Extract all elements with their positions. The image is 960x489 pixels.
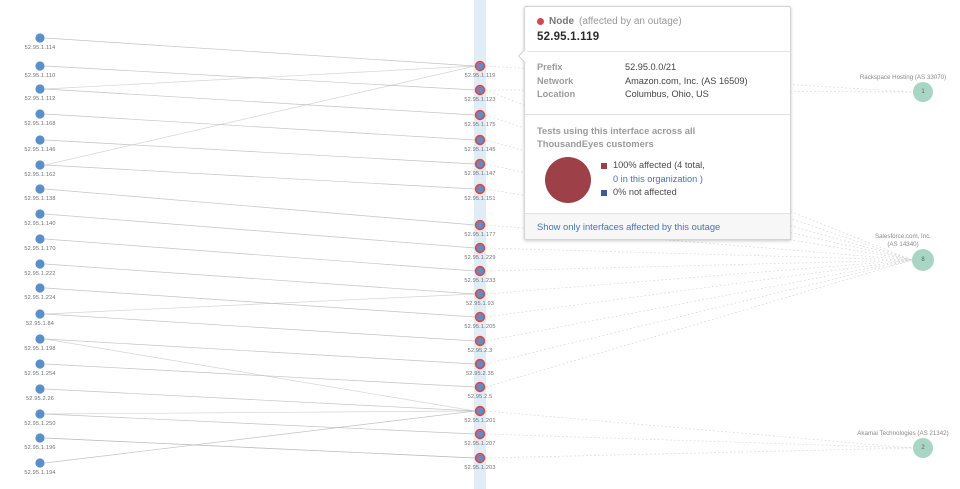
affected-node-label: 52.95.1.145	[464, 147, 495, 153]
affected-node[interactable]	[476, 221, 485, 230]
source-node[interactable]	[35, 409, 44, 418]
source-node-label: 52.95.1.168	[24, 121, 55, 127]
affected-node-label: 52.95.1.177	[464, 232, 495, 238]
pie-legend: 100% affected (4 total, 0 in this organi…	[601, 159, 705, 200]
source-node-label: 52.95.2.26	[26, 396, 54, 402]
source-node[interactable]	[35, 433, 44, 442]
source-node-label: 52.95.1.250	[24, 421, 55, 427]
affected-node[interactable]	[476, 111, 485, 120]
affected-node[interactable]	[476, 407, 485, 416]
edge	[45, 239, 475, 271]
edge	[486, 448, 913, 458]
edge	[45, 189, 475, 225]
affected-node-label: 52.95.1.93	[466, 301, 494, 307]
edge	[45, 364, 475, 387]
affected-node[interactable]	[476, 185, 485, 194]
affected-node[interactable]	[476, 383, 485, 392]
tests-stats: 100% affected (4 total, 0 in this organi…	[537, 157, 778, 203]
detail-row-location: Location Columbus, Ohio, US	[537, 88, 778, 102]
source-node-label: 52.95.1.110	[25, 73, 56, 79]
source-node[interactable]	[35, 458, 44, 467]
destination-node-count: 2	[921, 445, 924, 451]
edge	[486, 260, 912, 317]
destination-label-line: (AS 14340)	[875, 241, 931, 249]
affected-node-label: 52.95.1.123	[464, 97, 495, 103]
source-node-label: 52.95.1.196	[24, 445, 55, 451]
edge	[45, 165, 475, 189]
detail-row-network: Network Amazon.com, Inc. (AS 16509)	[537, 75, 778, 89]
affected-node[interactable]	[476, 290, 485, 299]
source-node-label: 52.95.1.198	[24, 346, 55, 352]
affected-node-label: 52.95.2.3	[468, 348, 493, 354]
edge	[45, 66, 475, 165]
affected-node-label: 52.95.1.147	[464, 171, 495, 177]
affected-node[interactable]	[476, 62, 485, 71]
source-node[interactable]	[35, 283, 44, 292]
destination-node-label: Akamai Technologies (AS 21342)	[857, 430, 948, 438]
affected-node-label: 52.95.1.201	[464, 418, 495, 424]
affected-node-label: 52.95.1.207	[464, 441, 495, 447]
tests-title-line2: ThousandEyes customers	[537, 137, 778, 150]
affected-node[interactable]	[476, 86, 485, 95]
edge	[45, 339, 475, 364]
detail-value: Columbus, Ohio, US	[625, 88, 709, 102]
tooltip-node-ip: 52.95.1.119	[537, 31, 778, 43]
edge	[486, 260, 912, 294]
source-node[interactable]	[35, 234, 44, 243]
legend-swatch-not-affected	[601, 190, 607, 196]
affected-node[interactable]	[476, 360, 485, 369]
affected-node-label: 52.95.1.233	[464, 278, 495, 284]
source-node[interactable]	[35, 33, 44, 42]
detail-key: Network	[537, 75, 625, 89]
tooltip-kind-sub: (affected by an outage)	[579, 16, 682, 27]
edge	[486, 411, 913, 448]
detail-row-prefix: Prefix 52.95.0.0/21	[537, 61, 778, 75]
source-node-label: 52.95.1.138	[24, 196, 55, 202]
source-node-label: 52.95.1.194	[24, 470, 55, 476]
affected-node[interactable]	[476, 430, 485, 439]
affected-node-label: 52.95.1.175	[464, 122, 495, 128]
source-node-label: 52.95.1.224	[24, 295, 55, 301]
destination-node-count: 1	[921, 89, 924, 95]
affected-node[interactable]	[476, 244, 485, 253]
affected-pie-chart	[545, 157, 591, 203]
topology-canvas: 52.95.1.11452.95.1.11052.95.1.11252.95.1…	[0, 0, 960, 489]
detail-value: Amazon.com, Inc. (AS 16509)	[625, 75, 748, 89]
source-node-label: 52.95.1.162	[24, 172, 55, 178]
destination-label-line: Akamai Technologies (AS 21342)	[857, 430, 948, 438]
tooltip-tests-section: Tests using this interface across all Th…	[525, 114, 790, 213]
affected-node-label: 52.95.1.229	[464, 255, 495, 261]
source-node[interactable]	[35, 135, 44, 144]
edge	[45, 38, 475, 66]
edge	[45, 89, 475, 115]
source-node[interactable]	[35, 259, 44, 268]
source-node-label: 52.95.1.170	[24, 246, 55, 252]
destination-label-line: Salesforce.com, Inc.	[875, 233, 931, 241]
edge	[486, 260, 912, 271]
show-only-affected-link[interactable]: Show only interfaces affected by this ou…	[525, 213, 790, 239]
legend-affected: 100% affected (4 total, 0 in this organi…	[601, 159, 705, 186]
affected-node[interactable]	[476, 136, 485, 145]
tests-title-line1: Tests using this interface across all	[537, 124, 778, 137]
detail-key: Location	[537, 88, 625, 102]
source-node[interactable]	[35, 334, 44, 343]
source-node[interactable]	[35, 184, 44, 193]
legend-swatch-affected	[601, 163, 607, 169]
edge	[45, 314, 475, 341]
source-node-label: 52.95.1.84	[26, 321, 54, 327]
source-node-label: 52.95.1.112	[25, 96, 56, 102]
source-node-label: 52.95.1.114	[25, 45, 56, 51]
affected-node[interactable]	[476, 337, 485, 346]
detail-value: 52.95.0.0/21	[625, 61, 676, 75]
source-node[interactable]	[35, 61, 44, 70]
source-node-label: 52.95.1.146	[24, 147, 55, 153]
source-node[interactable]	[35, 160, 44, 169]
edge	[45, 414, 475, 434]
legend-affected-text: 100% affected (4 total,	[613, 160, 705, 170]
outage-status-dot	[537, 18, 544, 25]
edge	[486, 434, 913, 448]
affected-node-label: 52.95.1.151	[464, 196, 495, 202]
destination-label-line: Rackspace Hosting (AS 33070)	[860, 74, 946, 82]
tooltip-header: Node (affected by an outage) 52.95.1.119	[525, 7, 790, 52]
affected-node[interactable]	[476, 267, 485, 276]
edge	[486, 260, 912, 364]
edge	[45, 411, 475, 414]
edge	[45, 214, 475, 248]
legend-not-affected-text: 0% not affected	[613, 186, 677, 200]
source-node-label: 52.95.1.254	[24, 371, 55, 377]
destination-node-label: Rackspace Hosting (AS 33070)	[860, 74, 946, 82]
edge	[486, 248, 912, 260]
destination-node-count: 8	[921, 257, 924, 263]
source-node[interactable]	[35, 384, 44, 393]
affected-node[interactable]	[476, 313, 485, 322]
tooltip-details: Prefix 52.95.0.0/21 Network Amazon.com, …	[525, 52, 790, 106]
edge	[45, 114, 475, 140]
source-node-label: 52.95.1.222	[24, 271, 55, 277]
solid-edges	[45, 38, 475, 463]
affected-node[interactable]	[476, 160, 485, 169]
legend-affected-org: 0 in this organization )	[613, 174, 703, 184]
destination-node-label: Salesforce.com, Inc.(AS 14340)	[875, 233, 931, 249]
edge	[486, 260, 912, 341]
tests-section-title: Tests using this interface across all Th…	[537, 124, 778, 150]
node-tooltip: Node (affected by an outage) 52.95.1.119…	[524, 6, 791, 240]
source-node-label: 52.95.1.140	[24, 221, 55, 227]
affected-node-label: 52.95.1.119	[465, 73, 496, 79]
source-node[interactable]	[35, 359, 44, 368]
tooltip-kind-label: Node	[549, 16, 574, 27]
edge	[45, 288, 475, 317]
source-node[interactable]	[35, 109, 44, 118]
affected-node-label: 52.95.2.5	[468, 394, 493, 400]
source-node[interactable]	[35, 209, 44, 218]
edge	[486, 260, 912, 387]
affected-node-label: 52.95.1.205	[464, 324, 495, 330]
affected-node[interactable]	[476, 454, 485, 463]
edge	[45, 264, 475, 294]
affected-node-label: 52.95.1.203	[464, 465, 495, 471]
edge	[45, 140, 475, 164]
affected-node-label: 52.95.2.35	[466, 371, 494, 377]
detail-key: Prefix	[537, 61, 625, 75]
source-node[interactable]	[35, 309, 44, 318]
legend-not-affected: 0% not affected	[601, 186, 705, 200]
edge	[45, 294, 475, 314]
source-node[interactable]	[35, 84, 44, 93]
